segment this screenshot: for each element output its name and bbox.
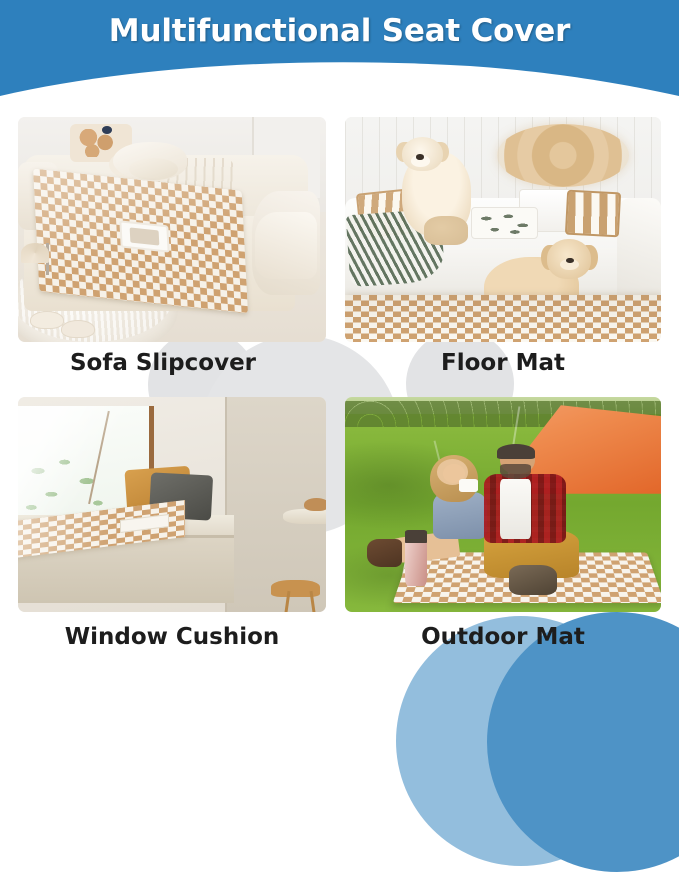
floor-photo-rattan-wall-disc [497,124,630,187]
window-photo-side-table [283,509,326,524]
cell-label-floor-mat: Floor Mat [345,350,661,376]
sofa-photo-shell-decor [21,243,49,263]
product-cell-window-cushion [18,397,326,612]
floor-photo-mat-shading [345,295,661,342]
sofa-photo-right-cushion [255,212,317,280]
page-title: Multifunctional Seat Cover [0,13,679,49]
product-photo-sofa-slipcover [18,117,326,342]
outdoor-photo-woman-cup [459,479,478,492]
decorative-circle-blue-mid [487,612,679,872]
product-photo-window-cushion [18,397,326,612]
header-banner: Multifunctional Seat Cover [0,0,679,112]
outdoor-photo-man-beard [500,464,532,479]
floor-photo-sofa-arm [617,198,661,302]
outdoor-photo-thermos-cap [405,530,427,543]
outdoor-photo-woman-boot [367,539,402,567]
sofa-photo-tray-book [119,220,170,252]
outdoor-photo-man-hair [497,444,535,459]
cell-label-outdoor-mat: Outdoor Mat [345,624,661,650]
outdoor-photo-man-boot [509,565,556,595]
cell-label-sofa: Sofa Slipcover [0,350,326,376]
decorative-circle-blue-light [396,616,646,866]
product-cell-sofa [18,117,326,342]
outdoor-photo-man-tshirt [500,479,532,539]
window-photo-wooden-bowl [304,498,326,511]
floor-photo-botanical-pillow [471,207,537,239]
product-cell-floor-mat [345,117,661,342]
sofa-photo-slipper-left [30,311,64,329]
floor-photo-dog-sitting-legs [424,216,468,245]
sofa-photo-slipper-right [61,320,95,338]
product-photo-outdoor-mat [345,397,661,612]
product-photo-floor-mat [345,117,661,342]
floor-photo-dog-lying-nose [566,258,574,263]
floor-photo-striped-pillow-right [565,190,621,238]
floor-photo-dog-sitting-nose [416,154,424,159]
product-cell-outdoor-mat [345,397,661,612]
sofa-photo-knot-bolster-loop [129,158,178,181]
cell-label-window-cushion: Window Cushion [18,624,326,650]
